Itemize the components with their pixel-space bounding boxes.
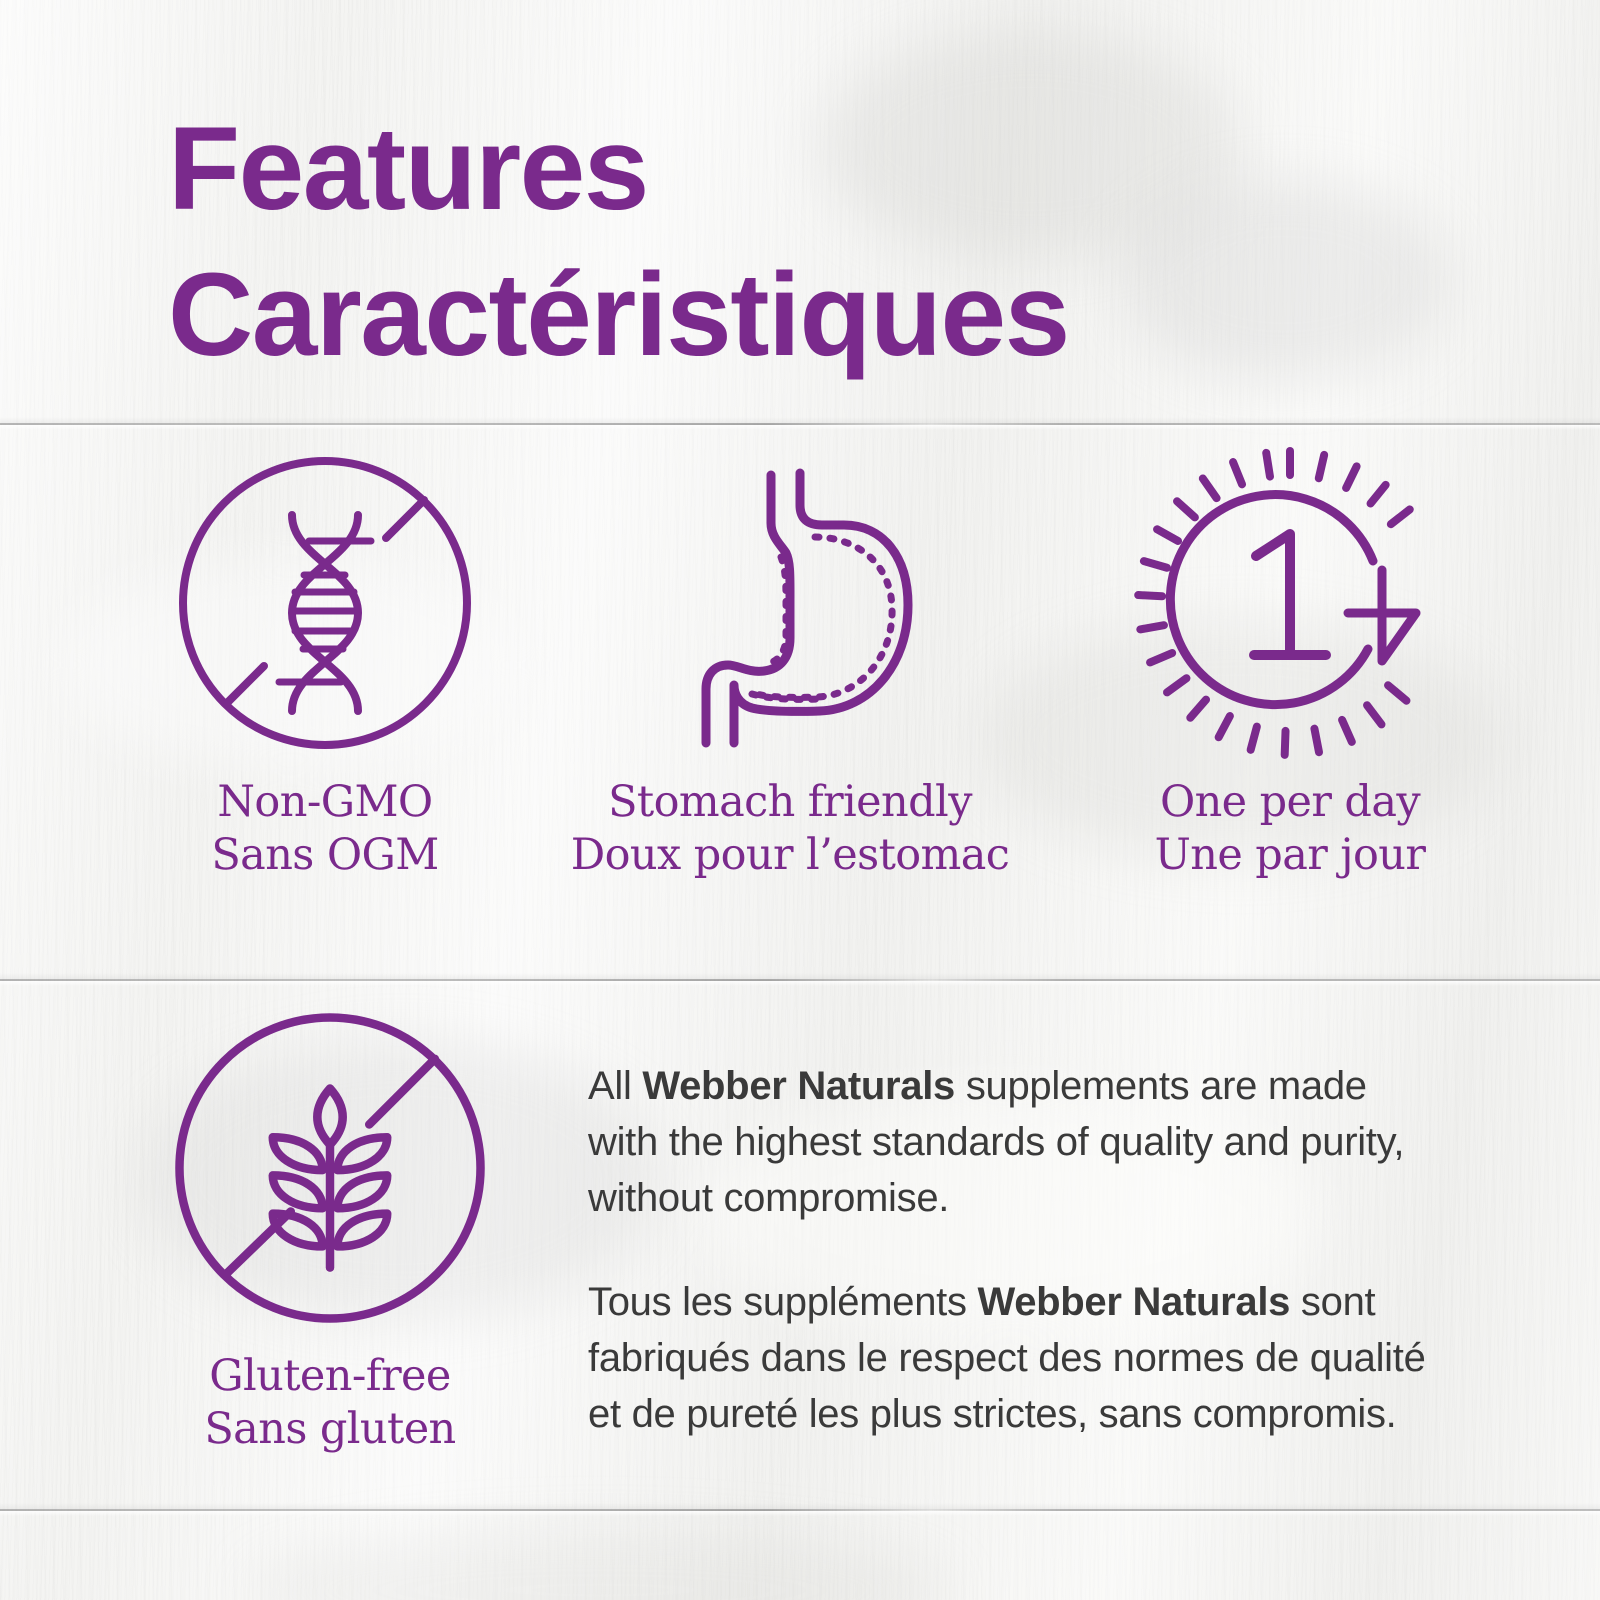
feature-label-en: Non-GMO [217,777,432,827]
feature-one-per-day: One per day Une par jour [1050,448,1530,883]
page-title-line-en: Features [168,96,1448,242]
feature-label-en: Gluten-free [209,1351,451,1401]
page-title-line-fr: Caractéristiques [168,242,1448,388]
bottom-section: Gluten-free Sans gluten All Webber Natur… [0,1000,1600,1500]
feature-label-gluten-free: Gluten-free Sans gluten [110,1350,550,1457]
body-en-before-brand: All [588,1064,642,1108]
feature-gluten-free: Gluten-free Sans gluten [110,1008,550,1457]
body-copy: All Webber Naturals supplements are made… [588,1058,1438,1442]
feature-stomach-friendly: Stomach friendly Doux pour l’estomac [540,448,1040,883]
feature-label-en: Stomach friendly [608,777,972,827]
feature-label-fr: Une par jour [1050,829,1530,882]
brand-name: Webber Naturals [977,1280,1290,1324]
one-per-day-icon [1050,448,1530,758]
body-fr-before-brand: Tous les suppléments [588,1280,977,1324]
features-row: Non-GMO Sans OGM [0,448,1600,918]
feature-label-fr: Doux pour l’estomac [540,829,1040,882]
feature-label-one-per-day: One per day Une par jour [1050,776,1530,883]
feature-label-en: One per day [1160,777,1420,827]
body-paragraph-en: All Webber Naturals supplements are made… [588,1058,1438,1226]
stomach-icon [540,448,1040,758]
gluten-free-wheat-icon [110,1008,550,1328]
feature-label-stomach-friendly: Stomach friendly Doux pour l’estomac [540,776,1040,883]
no-gmo-dna-icon [110,448,540,758]
body-paragraph-fr: Tous les suppléments Webber Naturals son… [588,1274,1438,1442]
brand-name: Webber Naturals [642,1064,955,1108]
feature-label-fr: Sans OGM [110,829,540,882]
feature-label-fr: Sans gluten [110,1403,550,1456]
feature-non-gmo: Non-GMO Sans OGM [110,448,540,883]
page-title: Features Caractéristiques [168,96,1448,389]
feature-label-non-gmo: Non-GMO Sans OGM [110,776,540,883]
infographic-page: Features Caractéristiques [0,0,1600,1600]
